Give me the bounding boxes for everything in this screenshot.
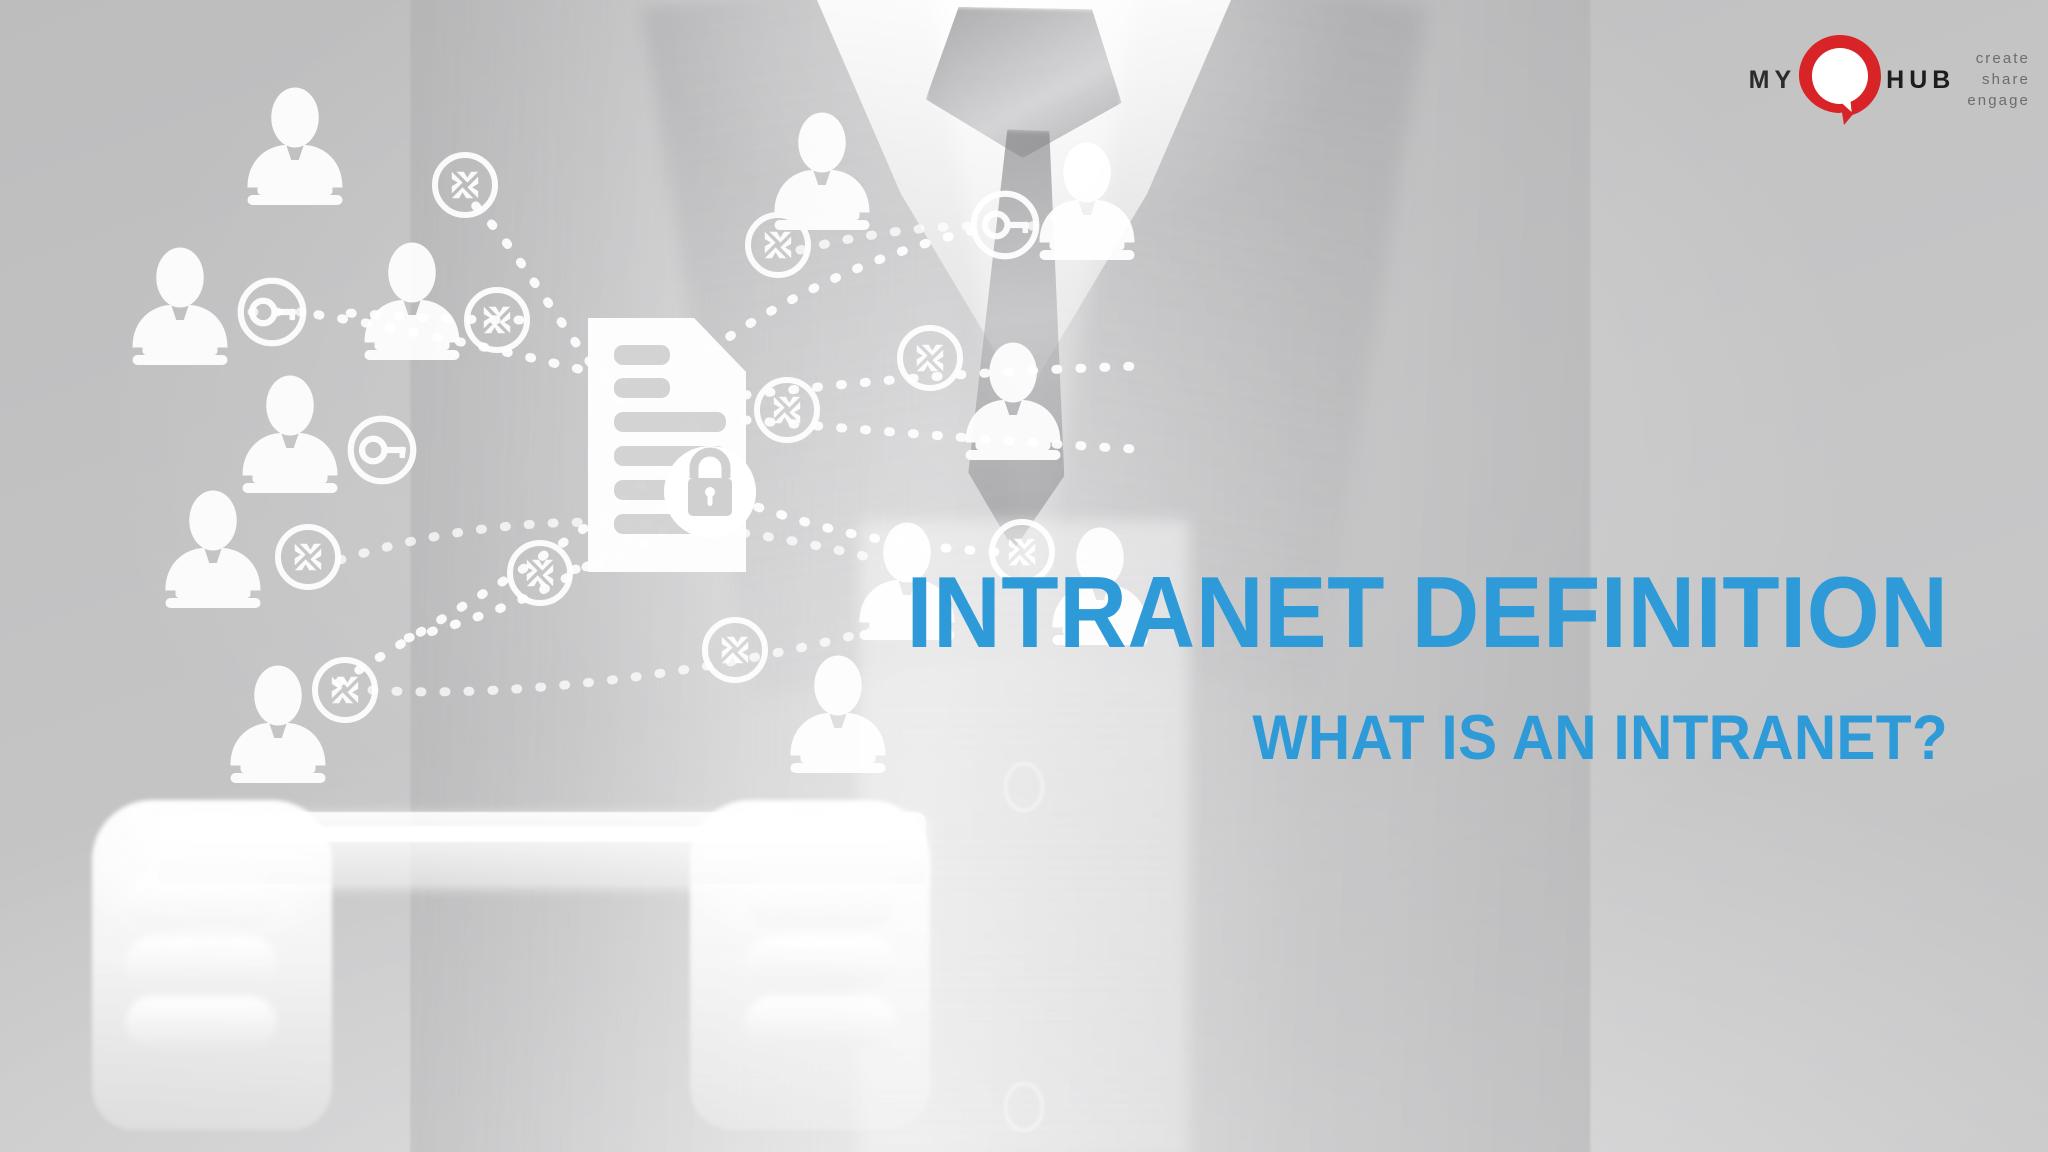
speech-bubble-icon (1798, 34, 1882, 126)
hero-banner: INTRANET DEFINITION WHAT IS AN INTRANET?… (0, 0, 2048, 1152)
tagline-share: share (1982, 72, 2030, 88)
logo-tagline: create share engage (1967, 51, 2030, 108)
lock-icon (664, 446, 756, 538)
myhub-logo[interactable]: MY HUB create share engage (1749, 20, 2030, 140)
logo-word-hub: HUB (1886, 66, 1955, 95)
logo-word-my: MY (1749, 66, 1797, 95)
network-graphic (0, 0, 2048, 1152)
tagline-engage: engage (1967, 93, 2030, 109)
tagline-create: create (1976, 51, 2030, 67)
